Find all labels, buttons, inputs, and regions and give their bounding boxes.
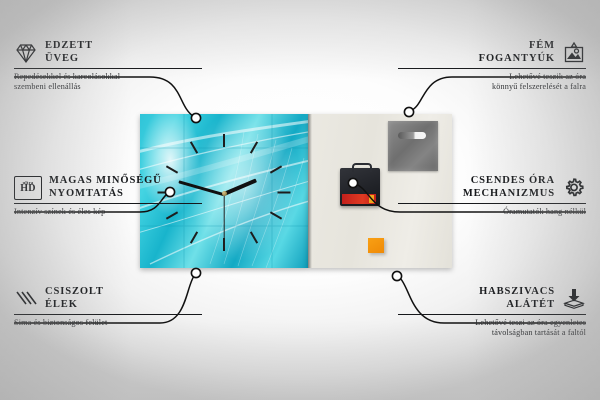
feature-header: HABSZIVACSALÁTÉT bbox=[398, 286, 586, 311]
clock-mechanism bbox=[340, 168, 380, 206]
feature-description: Sima és biztonságos felület bbox=[14, 318, 202, 328]
feature-header: CSENDES ÓRAMECHANIZMUS bbox=[398, 175, 586, 200]
polished-edges-icon bbox=[14, 287, 38, 311]
divider bbox=[398, 68, 586, 70]
picture-hanger-icon bbox=[562, 41, 586, 65]
feature-header: FÉMFOGANTYÚK bbox=[398, 40, 586, 65]
divider bbox=[14, 314, 202, 316]
clock-tick bbox=[278, 192, 291, 194]
hanger-slot bbox=[398, 132, 426, 139]
feature-silent-mechanism[interactable]: CSENDES ÓRAMECHANIZMUS Óramutatók hang n… bbox=[398, 175, 586, 217]
diamond-icon bbox=[14, 41, 38, 65]
mechanism-hook bbox=[352, 163, 372, 172]
foam-pad bbox=[368, 238, 384, 253]
feature-foam-pad[interactable]: HABSZIVACSALÁTÉT Lehetővé teszi az óra e… bbox=[398, 286, 586, 338]
divider bbox=[398, 203, 586, 205]
feature-title: CSENDES ÓRAMECHANIZMUS bbox=[463, 175, 555, 200]
feature-polished-edges[interactable]: CSISZOLTÉLEK Sima és biztonságos felület bbox=[14, 286, 202, 328]
feature-metal-handles[interactable]: FÉMFOGANTYÚK Lehetővé teszik az órakönny… bbox=[398, 40, 586, 92]
feature-title: EDZETTÜVEG bbox=[45, 40, 93, 65]
mechanism-label bbox=[342, 194, 376, 204]
metal-hanger-bracket bbox=[388, 121, 438, 171]
feature-header: CSISZOLTÉLEK bbox=[14, 286, 202, 311]
feature-description: Lehetővé teszi az óra egyenletestávolság… bbox=[398, 318, 586, 338]
clock-tick bbox=[223, 134, 225, 147]
feature-header: EDZETTÜVEG bbox=[14, 40, 202, 65]
divider bbox=[398, 314, 586, 316]
feature-title: HABSZIVACSALÁTÉT bbox=[479, 286, 555, 311]
divider bbox=[14, 68, 202, 70]
feature-description: Lehetővé teszik az órakönnyű felszerelés… bbox=[398, 72, 586, 92]
feature-title: MAGAS MINŐSÉGŰNYOMTATÁS bbox=[49, 175, 162, 200]
divider bbox=[14, 203, 202, 205]
clock-center-pin bbox=[222, 191, 227, 196]
ultra-hd-icon: ultra HD bbox=[14, 176, 42, 200]
feature-tempered-glass[interactable]: EDZETTÜVEG Repedésekkel és karcolásokkal… bbox=[14, 40, 202, 92]
infographic-canvas: EDZETTÜVEG Repedésekkel és karcolásokkal… bbox=[0, 0, 600, 400]
feature-header: ultra HD MAGAS MINŐSÉGŰNYOMTATÁS bbox=[14, 175, 202, 200]
feature-description: Repedésekkel és karcolásokkalszembeni el… bbox=[14, 72, 202, 92]
feature-description: Óramutatók hang nélkül bbox=[398, 207, 586, 217]
feature-description: Intenzív színek és éles kép bbox=[14, 207, 202, 217]
ultra-hd-main-text: HD bbox=[20, 184, 36, 194]
feature-title: CSISZOLTÉLEK bbox=[45, 286, 104, 311]
clock-second-hand bbox=[223, 194, 224, 249]
gear-icon bbox=[562, 176, 586, 200]
foam-pad-arrow-icon bbox=[562, 287, 586, 311]
feature-high-quality-print[interactable]: ultra HD MAGAS MINŐSÉGŰNYOMTATÁS Intenzí… bbox=[14, 175, 202, 217]
feature-title: FÉMFOGANTYÚK bbox=[479, 40, 555, 65]
